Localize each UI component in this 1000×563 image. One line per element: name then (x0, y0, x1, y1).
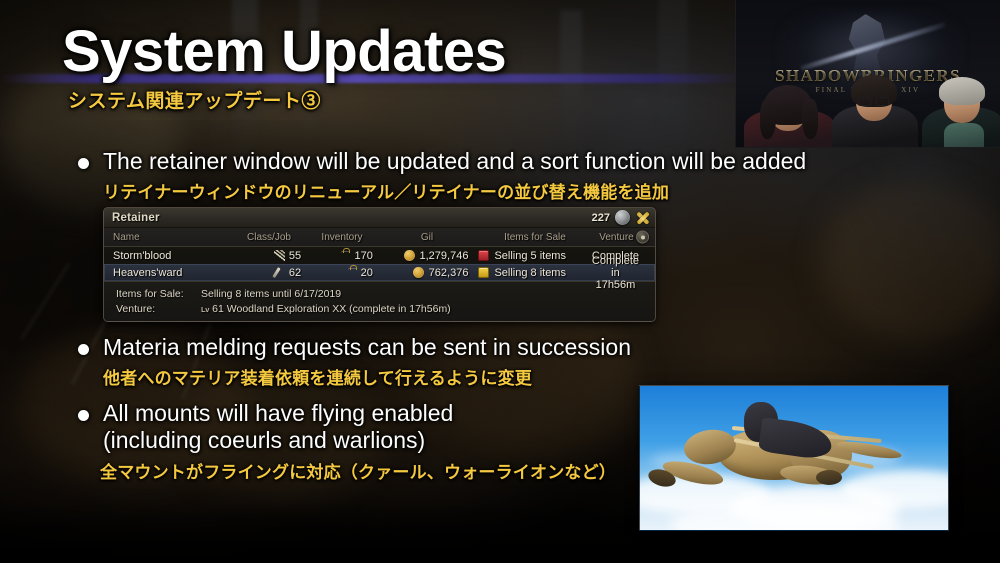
bullet-text-english-continued: (including coeurls and warlions) (103, 427, 616, 454)
retainer-class-job: 62 (231, 267, 305, 279)
gear-icon[interactable] (636, 231, 649, 244)
panelist-left (744, 87, 836, 148)
retainer-inventory: 20 (305, 267, 377, 279)
bullet-item-materia-melding: Materia melding requests can be sent in … (78, 334, 631, 389)
bullet-item-flying-mounts: All mounts will have flying enabled (inc… (78, 400, 616, 483)
bullet-dot-icon (78, 410, 89, 421)
retainer-gil-amount: 1,279,746 (420, 250, 469, 262)
inventory-bag-icon (348, 268, 357, 278)
presentation-slide: System Updates システム関連アップデート③ The retaine… (0, 0, 1000, 563)
flying-coeurl-mount-image (639, 385, 949, 531)
retainer-window-title: Retainer (112, 212, 160, 224)
retainer-detail-panel: Items for Sale: Selling 8 items until 6/… (104, 281, 655, 322)
gil-coin-icon (413, 267, 424, 278)
retainer-gil: 1,279,746 (377, 250, 475, 262)
detail-items-for-sale-value: Selling 8 items until 6/17/2019 (201, 287, 341, 302)
retainer-venture-status: Complete in 17h56m (592, 255, 655, 291)
retainer-window-titlebar-controls: 227 (592, 208, 650, 227)
retainer-inventory-count: 170 (354, 250, 372, 262)
bullet-dot-icon (78, 158, 89, 169)
gil-coin-icon (404, 250, 415, 261)
retainer-items-for-sale: Selling 5 items (474, 250, 591, 262)
retainer-items-for-sale-text: Selling 5 items (494, 250, 566, 262)
table-row[interactable]: Heavens'ward 62 20 762,376 Selling 8 ite… (104, 264, 655, 281)
bullet-text-japanese: リテイナーウィンドウのリニューアル／リテイナーの並び替え機能を追加 (103, 178, 806, 203)
retainer-inventory: 170 (305, 250, 377, 262)
bullet-text-english: The retainer window will be updated and … (103, 148, 806, 175)
livestream-webcam-overlay: SHADOWBRINGERS FINAL FANTASY XIV (735, 0, 1000, 148)
column-header-inventory[interactable]: Inventory (306, 232, 378, 243)
table-row[interactable]: Storm'blood 55 170 1,279,746 Selling 5 i… (104, 247, 655, 264)
retainer-table-header: Name Class/Job Inventory Gil Items for S… (104, 228, 655, 247)
panelist-glasses (876, 97, 889, 106)
market-board-red-icon (478, 250, 489, 261)
bullet-dot-icon (78, 344, 89, 355)
bullet-text-english: Materia melding requests can be sent in … (103, 334, 631, 361)
retainer-count-value: 227 (592, 212, 610, 224)
detail-items-for-sale-label: Items for Sale: (116, 287, 201, 302)
retainer-items-for-sale-text: Selling 8 items (494, 267, 566, 279)
retainer-table-body: Storm'blood 55 170 1,279,746 Selling 5 i… (104, 247, 655, 281)
retainer-window[interactable]: Retainer 227 Name Class/Job Inventory Gi… (103, 207, 656, 322)
retainer-items-for-sale: Selling 8 items (474, 267, 591, 279)
close-icon[interactable] (635, 210, 650, 225)
page-title: System Updates (62, 18, 506, 85)
column-header-name[interactable]: Name (104, 232, 232, 243)
panelist-right (922, 79, 1000, 148)
bullet-item-retainer-window: The retainer window will be updated and … (78, 148, 806, 203)
market-board-yellow-icon (478, 267, 489, 278)
column-header-gil[interactable]: Gil (378, 232, 476, 243)
miner-class-icon (274, 267, 285, 278)
column-header-class-job[interactable]: Class/Job (232, 232, 306, 243)
retainer-name: Storm'blood (104, 250, 231, 262)
retainer-inventory-count: 20 (361, 267, 373, 279)
retainer-name: Heavens'ward (104, 267, 231, 279)
bullet-text-japanese: 全マウントがフライングに対応（クァール、ウォーライオンなど） (100, 458, 616, 483)
retainer-level: 55 (289, 250, 301, 262)
detail-venture-row: Venture: Lv 61 Woodland Exploration XX (… (116, 302, 655, 317)
panelist-hair-side (760, 99, 776, 139)
retainer-gil-amount: 762,376 (429, 267, 469, 279)
botanist-class-icon (274, 250, 285, 261)
retainer-window-titlebar[interactable]: Retainer 227 (104, 208, 655, 228)
page-subtitle-japanese: システム関連アップデート③ (68, 86, 321, 113)
retainer-level: 62 (289, 267, 301, 279)
detail-items-for-sale-row: Items for Sale: Selling 8 items until 6/… (116, 287, 655, 302)
detail-venture-label: Venture: (116, 302, 201, 317)
retainer-gil: 762,376 (377, 267, 475, 279)
detail-venture-value: 61 Woodland Exploration XX (complete in … (212, 302, 451, 317)
coeurl-hind-paw (816, 470, 842, 485)
retainer-orb-icon (615, 210, 630, 225)
panelist-hair-side (802, 99, 818, 139)
panelist-shirt (944, 123, 984, 148)
bullet-text-english: All mounts will have flying enabled (103, 400, 453, 427)
level-prefix-icon: Lv (201, 302, 209, 317)
bullet-text-japanese: 他者へのマテリア装着依頼を連続して行えるように変更 (103, 364, 631, 389)
inventory-bag-icon (341, 251, 350, 261)
detail-venture-value-group: Lv 61 Woodland Exploration XX (complete … (201, 302, 451, 317)
column-header-items-for-sale[interactable]: Items for Sale (476, 232, 594, 243)
panelist-hair (939, 77, 985, 105)
panelist-center (832, 73, 918, 148)
panelist-glasses (858, 97, 871, 106)
retainer-class-job: 55 (231, 250, 305, 262)
